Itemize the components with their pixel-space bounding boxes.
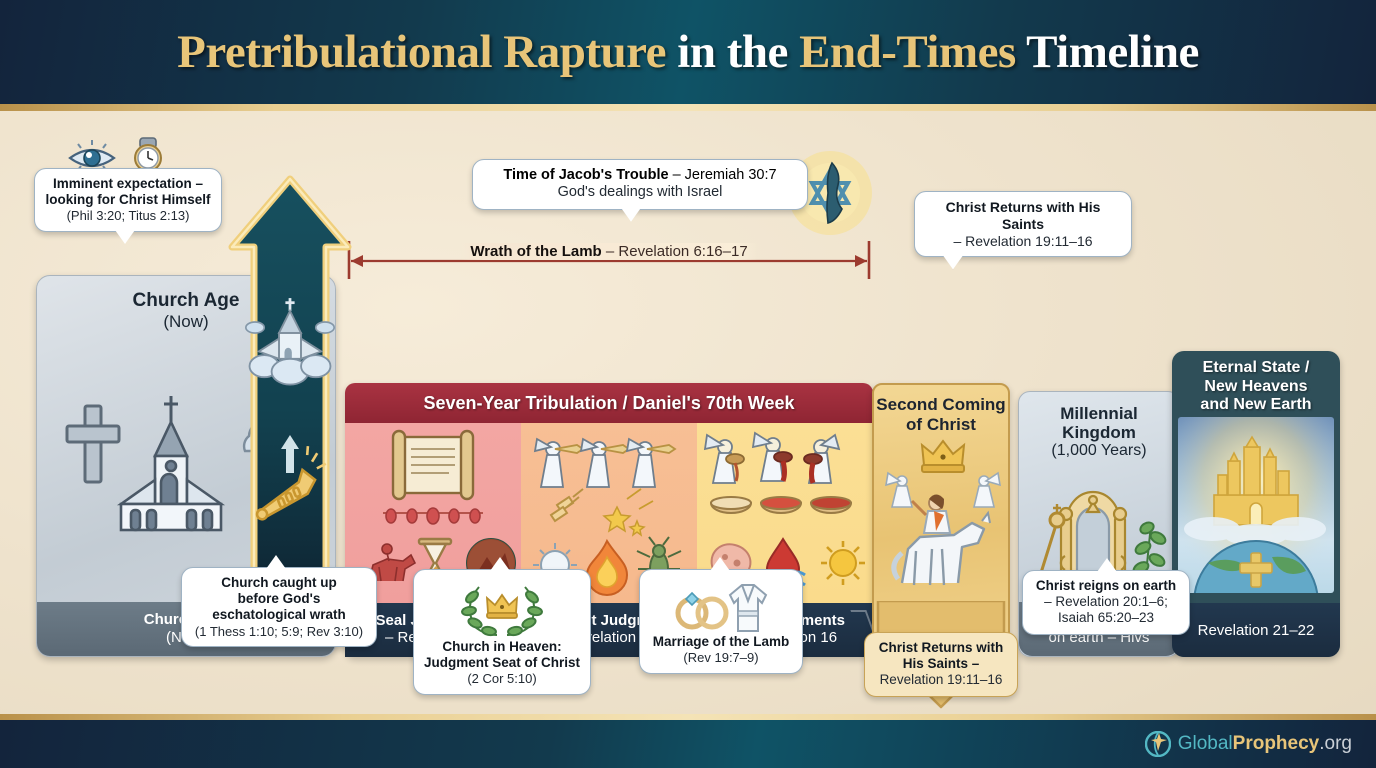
caught-up-line1: Church caught up bbox=[192, 575, 366, 591]
footer-bar: GlobalProphecy.org bbox=[0, 720, 1376, 768]
brand-text: GlobalProphecy.org bbox=[1178, 733, 1352, 755]
falling-trumpets-icon bbox=[551, 489, 583, 521]
header-banner: Pretribulational Rapture in the End-Time… bbox=[0, 0, 1376, 104]
crown-icon bbox=[922, 441, 964, 472]
heaven-line1: Church in Heaven: bbox=[424, 639, 580, 655]
eternal-title-line3: and New Earth bbox=[1200, 396, 1311, 413]
returns-bottom-line3: Revelation 19:11–16 bbox=[875, 672, 1007, 688]
eternal-state-title: Eternal State / New Heavens and New Eart… bbox=[1172, 359, 1340, 415]
second-coming-artwork bbox=[878, 437, 1008, 602]
jacob-line1-rest: – Jeremiah 30:7 bbox=[669, 167, 777, 183]
callout-jacobs-trouble[interactable]: Time of Jacob's Trouble – Jeremiah 30:7 … bbox=[472, 159, 808, 210]
scroll-icon bbox=[393, 431, 473, 499]
second-coming-title-line2: of Christ bbox=[906, 415, 976, 434]
reigns-line3: Isaiah 65:20–23 bbox=[1033, 610, 1179, 626]
callout-christ-returns-bottom[interactable]: Christ Returns with His Saints – Revelat… bbox=[864, 632, 1018, 697]
callout-church-in-heaven[interactable]: Church in Heaven: Judgment Seat of Chris… bbox=[413, 569, 591, 695]
reigns-line1: Christ reigns on earth bbox=[1033, 578, 1179, 594]
wrath-label-bold: Wrath of the Lamb bbox=[470, 243, 601, 260]
angel-icon bbox=[974, 473, 1000, 507]
bowl-icon bbox=[711, 497, 851, 513]
callout-church-caught-up[interactable]: Church caught up before God's eschatolog… bbox=[181, 567, 377, 647]
second-coming-title: Second Coming of Christ bbox=[874, 395, 1008, 434]
heaven-line3: (2 Cor 5:10) bbox=[424, 671, 580, 687]
timeline-stage: Church Age (Now) bbox=[0, 111, 1376, 714]
angel-icon bbox=[886, 473, 912, 507]
millennial-title-line1: Millennial bbox=[1019, 404, 1179, 423]
church-icon bbox=[121, 396, 221, 530]
millennial-title-line2: Kingdom bbox=[1019, 423, 1179, 442]
returns-bottom-line1: Christ Returns with bbox=[875, 640, 1007, 656]
marriage-line1: Marriage of the Lamb bbox=[650, 634, 792, 650]
panel-eternal-state[interactable]: Eternal State / New Heavens and New Eart… bbox=[1172, 351, 1340, 657]
cross-icon bbox=[67, 406, 119, 482]
white-robe-icon bbox=[730, 585, 766, 631]
returns-top-line1: Christ Returns with His Saints bbox=[925, 199, 1121, 233]
wrath-bracket-label: Wrath of the Lamb – Revelation 6:16–17 bbox=[345, 243, 873, 260]
eternal-title-line2: New Heavens bbox=[1204, 378, 1307, 395]
star-icon bbox=[604, 489, 653, 535]
millennial-title: Millennial Kingdom (1,000 Years) bbox=[1019, 404, 1179, 460]
title-segment-3: End-Times bbox=[799, 26, 1026, 78]
title-segment-1: Pretribulational Rapture bbox=[177, 26, 677, 78]
caught-up-line3: eschatological wrath bbox=[192, 607, 366, 623]
brand-part3: .org bbox=[1319, 733, 1352, 754]
imminent-line2: looking for Christ Himself bbox=[45, 192, 211, 208]
eternal-title-line1: Eternal State / bbox=[1203, 359, 1310, 376]
callout-tail bbox=[943, 255, 963, 269]
angels-bowls-icon bbox=[705, 433, 839, 483]
millennial-subtitle: (1,000 Years) bbox=[1019, 442, 1179, 460]
angels-trumpets-icon bbox=[535, 439, 675, 487]
callout-christ-returns-top[interactable]: Christ Returns with His Saints – Revelat… bbox=[914, 191, 1132, 257]
brand-part1: Global bbox=[1178, 733, 1233, 754]
page-title: Pretribulational Rapture in the End-Time… bbox=[177, 25, 1199, 79]
wrath-label-rest: – Revelation 6:16–17 bbox=[602, 243, 748, 260]
scorching-sun-icon bbox=[821, 541, 865, 585]
laurel-crown-icon bbox=[457, 579, 547, 637]
callout-tail bbox=[621, 208, 641, 222]
eternal-state-artwork bbox=[1178, 417, 1334, 593]
returns-top-line2: – Revelation 19:11–16 bbox=[925, 233, 1121, 250]
callout-imminent-expectation[interactable]: Imminent expectation – looking for Chris… bbox=[34, 168, 222, 232]
callout-christ-reigns-on-earth[interactable]: Christ reigns on earth – Revelation 20:1… bbox=[1022, 570, 1190, 635]
brand-part2: Prophecy bbox=[1233, 733, 1320, 754]
callout-tail bbox=[115, 230, 135, 244]
heaven-line2: Judgment Seat of Christ bbox=[424, 655, 580, 671]
christ-on-white-horse-icon bbox=[894, 495, 990, 586]
tribulation-header: Seven-Year Tribulation / Daniel's 70th W… bbox=[345, 383, 873, 423]
imminent-line3: (Phil 3:20; Titus 2:13) bbox=[45, 208, 211, 224]
jacob-line2: God's dealings with Israel bbox=[483, 184, 797, 201]
wedding-rings-icon bbox=[678, 593, 726, 627]
second-coming-title-line1: Second Coming bbox=[876, 395, 1005, 414]
marriage-icons bbox=[666, 579, 776, 633]
reigns-line2: – Revelation 20:1–6; bbox=[1033, 594, 1179, 610]
globe-star-icon bbox=[1145, 731, 1171, 757]
returns-bottom-line2: His Saints – bbox=[875, 656, 1007, 672]
brand-logo[interactable]: GlobalProphecy.org bbox=[1145, 731, 1352, 757]
caught-up-line2: before God's bbox=[192, 591, 366, 607]
jacob-line1-bold: Time of Jacob's Trouble bbox=[503, 167, 668, 183]
caught-up-line4: (1 Thess 1:10; 5:9; Rev 3:10) bbox=[192, 624, 366, 640]
imminent-line1: Imminent expectation – bbox=[45, 176, 211, 192]
seals-row-icon bbox=[383, 508, 483, 524]
callout-marriage-of-the-lamb[interactable]: Marriage of the Lamb (Rev 19:7–9) bbox=[639, 569, 803, 674]
eternal-footer-label: Revelation 21–22 bbox=[1198, 622, 1315, 639]
header-gold-divider bbox=[0, 104, 1376, 111]
fire-icon bbox=[587, 541, 627, 595]
infographic-page: Pretribulational Rapture in the End-Time… bbox=[0, 0, 1376, 768]
eternal-state-footer: Revelation 21–22 bbox=[1172, 603, 1340, 657]
title-segment-2: in the bbox=[677, 26, 799, 78]
marriage-line2: (Rev 19:7–9) bbox=[650, 650, 792, 666]
title-segment-4: Timeline bbox=[1026, 26, 1199, 78]
